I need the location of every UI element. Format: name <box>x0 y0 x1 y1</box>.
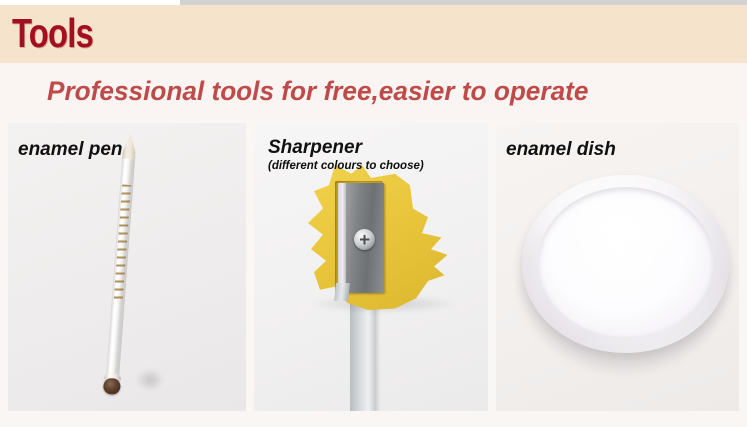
sharpener-image <box>302 165 452 310</box>
product-label-sharpener: Sharpener <box>268 137 362 159</box>
dish-inner-highlight <box>554 197 694 269</box>
subtitle-bar: Professional tools for free,easier to op… <box>0 63 747 120</box>
product-banner-page: Tools Professional tools for free,easier… <box>0 0 747 427</box>
page-title: Tools <box>12 13 93 54</box>
sharpener-blade-tail <box>334 283 350 301</box>
sharpener-handle <box>350 303 376 411</box>
pen-end-cap <box>103 378 121 395</box>
product-panel-sharpener[interactable]: Sharpener (different colours to choose) <box>254 123 488 411</box>
pen-cast-shadow <box>136 369 164 391</box>
product-label-enamel-pen: enamel pen <box>18 139 123 161</box>
product-panels: enamel pen Sharpener (different colours … <box>0 123 747 413</box>
header-banner: Tools <box>0 5 747 63</box>
screw-cross-slot <box>360 235 370 245</box>
enamel-pen-image <box>100 132 142 401</box>
product-label-enamel-dish: enamel dish <box>506 139 616 161</box>
subtitle-text: Professional tools for free,easier to op… <box>47 76 588 106</box>
sharpener-screw <box>354 229 375 250</box>
product-sublabel-sharpener: (different colours to choose) <box>268 160 424 172</box>
product-panel-enamel-pen[interactable]: enamel pen <box>8 123 246 411</box>
product-panel-enamel-dish[interactable]: enamel dish <box>496 123 739 411</box>
